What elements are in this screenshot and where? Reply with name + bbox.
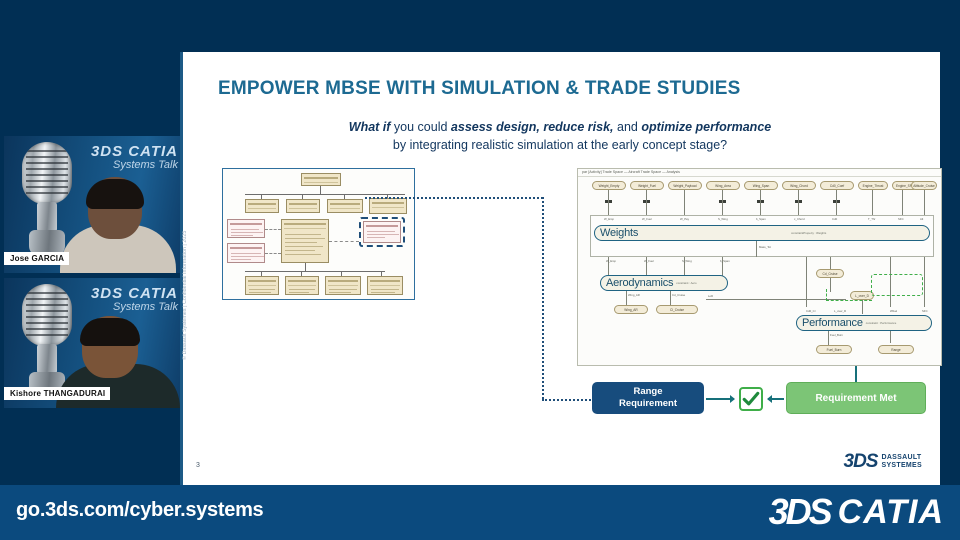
par-connector [924,257,925,307]
flow-arrow-to-check [706,398,734,400]
promo-url[interactable]: go.3ds.com/cyber.systems [16,499,263,522]
sysml-block-definition-diagram[interactable] [222,168,415,300]
bdd-connector [261,194,262,199]
par-connector [756,241,757,257]
ds-logo-line2: SYSTEMES [881,462,922,470]
par-port-label: W_Fuel [644,259,654,263]
bdd-connector [344,194,345,199]
par-port-label: SFC [898,217,904,221]
slide-subtitle: What if you could assess design, reduce … [180,118,940,154]
bdd-block-engine [245,276,279,295]
par-pill-input: Weight_Payload [668,181,702,190]
participant-name-plate: Jose GARCIA [4,252,69,265]
par-port-label: Cd0 [832,217,837,221]
catia-logo-name: CATIA [838,493,944,532]
par-group-label-aerodynamics: Aerodynamics constraint : Aero [600,275,728,291]
subtitle-emphasis-1: What if [349,120,391,134]
par-pill-input: Wing_Span [744,181,778,190]
par-connector [684,190,685,215]
par-port-label: Cd_Cruise [672,293,685,297]
bdd-block-aerodynamics [369,198,407,214]
par-pill-output: Cl_Cruise [656,305,698,314]
par-port-label: SFC [922,309,928,313]
bdd-dashed-connector [329,241,359,242]
par-connector [722,190,723,215]
par-highlight-range-path [826,289,872,301]
copyright-notice: © Dassault Systèmes | Confidential Infor… [182,350,188,360]
par-port-label: Wing_AR [628,293,640,297]
bdd-block-fuselage [245,199,279,213]
subtitle-emphasis-2: assess design, reduce risk, [451,120,614,134]
bdd-block-landing-gear [325,276,361,295]
par-connector [828,331,829,345]
parametric-analysis-diagram[interactable]: par [Activity] Trade Space — Aircraft Tr… [577,168,942,366]
subtitle-line-2: by integrating realistic simulation at t… [180,136,940,154]
par-connector [626,291,627,305]
par-highlight-range [871,274,923,296]
bdd-connector [245,271,385,272]
bdd-to-flow-connector-h2 [542,399,594,401]
subtitle-text-2: and [614,120,642,134]
slide-page-number: 3 [196,462,200,469]
bdd-dashed-connector [265,229,281,230]
ds-logo-text: DASSAULT SYSTEMES [881,454,922,469]
subtitle-text-1: you could [390,120,450,134]
bottom-branding-bar: go.3ds.com/cyber.systems 3DS CATIA [0,485,960,540]
subtitle-line-1: What if you could assess design, reduce … [180,118,940,136]
par-pill-output: Fuel_Burn [816,345,852,354]
par-port-label: b_Span [756,217,766,221]
par-connector [646,190,647,215]
flow-arrow-from-met [768,398,784,400]
par-connector [706,299,846,300]
par-connector [872,190,873,215]
bdd-connector [305,263,306,271]
catia-logo: 3DS CATIA [769,491,944,533]
range-requirement-line1: Range [633,386,662,398]
par-pill-output-range: Range [878,345,914,354]
par-pill-input: Wing_Area [706,181,740,190]
bdd-requirement-max-takeoff-weight [227,243,265,263]
par-connector [924,190,925,215]
participant-silhouette [58,165,176,273]
par-port-label: Cd0_Cr [806,309,816,313]
bdd-connector [320,186,321,194]
par-port-label: c_Chord [794,217,805,221]
par-connector [670,291,671,305]
par-group-label-performance: Performance constraint : Performance [796,315,932,331]
par-port-label: b_Span [720,259,730,263]
bdd-block-weights [286,199,320,213]
par-port-label: W_Emp [606,259,616,263]
catia-logo-mark: 3DS [769,491,830,533]
bdd-block-fuel [285,276,319,295]
par-pill-output: Wing_AR [614,305,648,314]
par-port-label: Fuel_Burn [830,333,843,337]
par-pill-input: Weight_Empty [592,181,626,190]
par-pill-input: Weight_Fuel [630,181,664,190]
par-connector [760,190,761,215]
par-port-label: W_Emp [604,217,614,221]
par-port-label: S_Wing [718,217,728,221]
requirement-met-box[interactable]: Requirement Met [786,382,926,414]
range-requirement-box[interactable]: Range Requirement [592,382,704,414]
par-port-label: W_Pay [680,217,689,221]
subtitle-emphasis-3: optimize performance [641,120,771,134]
par-connector [798,190,799,215]
bdd-dashed-connector [265,253,281,254]
bdd-block-mission [281,219,329,263]
par-connector [902,190,903,215]
par-port-label: Alt [920,217,923,221]
parametric-diagram-title: par [Activity] Trade Space — Aircraft Tr… [582,170,680,174]
par-connector [836,190,837,215]
par-pill-input: Engine_Thrust [858,181,888,190]
range-requirement-line2: Requirement [619,398,677,410]
par-port-label: S_Wing [682,259,692,263]
performance-to-met-connector [855,366,857,382]
dassault-systemes-logo: 3DS DASSAULT SYSTEMES [844,451,923,473]
par-connector [890,331,891,343]
webcam-tile-jose-garcia[interactable]: 3DS CATIA Systems Talk Jose GARCIA [4,136,180,273]
bdd-to-flow-connector-v [542,197,544,399]
par-pill-intermediate: Cd_Cruise [816,269,844,278]
bdd-connector [245,194,405,195]
check-icon [739,387,763,411]
bdd-block-performance [327,199,363,213]
par-connector [862,300,863,314]
par-port-label: LoD [708,294,713,298]
par-pill-input: Cd0_Coef [820,181,854,190]
bdd-requirement-min-range [363,221,401,243]
bdd-block-aircraft [301,173,341,186]
par-pill-input: Altitude_Cruise [911,181,937,190]
par-port-label: L_over_D [834,309,846,313]
webcam-tile-kishore-thangadurai[interactable]: 3DS CATIA Systems Talk Kishore THANGADUR… [4,278,180,408]
bdd-to-flow-connector-h1 [365,197,543,199]
par-port-label: Mass_Tot [759,245,771,249]
par-group-label-weights: Weights constraintProperty : Weights [594,225,930,241]
bdd-block-wing [367,276,403,295]
parametric-diagram-titlebar: par [Activity] Trade Space — Aircraft Tr… [578,169,941,177]
bdd-connector [302,194,303,199]
presentation-slide: EMPOWER MBSE WITH SIMULATION & TRADE STU… [180,52,940,485]
ds-logo-mark: 3DS [844,451,878,473]
par-port-label: W_Fuel [642,217,652,221]
ds-logo-line1: DASSAULT [881,454,922,462]
bdd-requirement-max-range [227,219,265,238]
par-port-label: Wfuel [890,309,897,313]
webcam-column: 3DS CATIA Systems Talk Jose GARCIA 3DS C… [0,0,180,480]
par-port-label: T_Thr [868,217,875,221]
participant-name-plate: Kishore THANGADURAI [4,387,110,400]
par-connector [608,190,609,215]
slide-title: EMPOWER MBSE WITH SIMULATION & TRADE STU… [218,78,741,100]
par-pill-input: Wing_Chord [782,181,816,190]
